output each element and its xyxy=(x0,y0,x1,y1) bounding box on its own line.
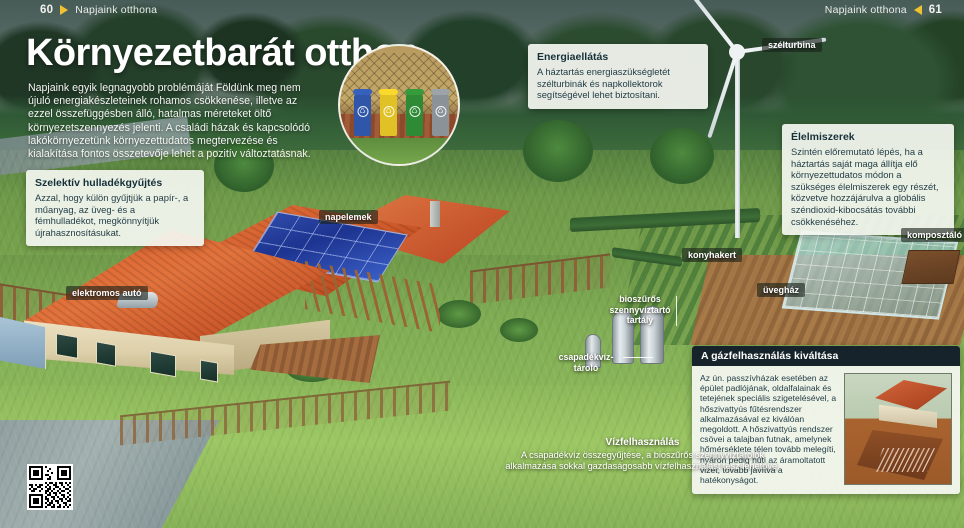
recycle-icon: ♺ xyxy=(357,106,368,117)
callout-solar-panels: napelemek xyxy=(319,210,378,224)
recycle-icon: ♺ xyxy=(383,106,394,117)
passive-house-heat-pump-diagram xyxy=(844,373,952,485)
recycle-icon: ♺ xyxy=(435,106,446,117)
info-box-energy-title: Energiaellátás xyxy=(537,51,699,63)
house-window-c xyxy=(150,351,176,378)
header-left: 60 Napjaink otthona xyxy=(40,4,157,16)
leader-line-rainwater xyxy=(623,357,653,358)
triangle-right-icon xyxy=(60,5,68,15)
recycling-bin-blue: ♺ xyxy=(354,94,371,136)
yard-tree-center xyxy=(523,120,593,182)
inset-lawn xyxy=(340,138,458,164)
recycling-bins-inset: ♺ ♺ ♺ ♺ xyxy=(338,44,460,166)
compost-bin xyxy=(901,250,960,284)
info-box-water-text: A csapadékvíz összegyűjtése, a bioszűrős… xyxy=(505,450,780,473)
wind-turbine-hub xyxy=(729,44,745,60)
recycling-bin-grey: ♺ xyxy=(432,94,449,136)
house-window-b xyxy=(96,341,116,367)
info-box-food-text: Szintén előremutató lépés, ha a háztartá… xyxy=(791,146,945,227)
section-title-left: Napjaink otthona xyxy=(75,4,157,16)
info-box-waste-text: Azzal, hogy külön gyűjtjük a papír-, a m… xyxy=(35,192,195,238)
recycling-bin-green: ♺ xyxy=(406,94,423,136)
page-number-right: 61 xyxy=(929,4,942,16)
info-box-water-title: Vízfelhasználás xyxy=(505,437,780,448)
qr-code[interactable] xyxy=(27,464,73,510)
callout-composter: komposztáló xyxy=(901,228,964,242)
callout-biofilter-tank: bioszűrős szennyvíztartó tartály xyxy=(596,294,684,326)
info-box-gas-title: A gázfelhasználás kiváltása xyxy=(692,346,960,366)
house-chimney xyxy=(430,201,440,227)
page-number-left: 60 xyxy=(40,4,53,16)
diagram-house-roof xyxy=(875,380,947,410)
infographic-page: 60 Napjaink otthona Napjaink otthona 61 … xyxy=(0,0,964,528)
callout-wind-turbine: szélturbina xyxy=(762,38,822,52)
callout-biofilter-tank-line1: bioszűrős xyxy=(619,294,661,304)
diagram-heat-pump-coil xyxy=(875,448,935,472)
callout-electric-car: elektromos autó xyxy=(66,286,148,300)
triangle-left-icon xyxy=(914,5,922,15)
yard-tree-right xyxy=(650,128,714,184)
info-box-waste-title: Szelektív hulladékgyűjtés xyxy=(35,177,195,189)
header-right: Napjaink otthona 61 xyxy=(825,4,942,16)
wind-turbine-mast xyxy=(735,48,740,238)
callout-greenhouse: üvegház xyxy=(757,283,805,297)
house-window-d xyxy=(200,359,218,382)
leader-line-biofilter xyxy=(676,296,677,326)
info-box-food: Élelmiszerek Szintén előremutató lépés, … xyxy=(782,124,954,235)
section-title-right: Napjaink otthona xyxy=(825,4,907,16)
bin-lid xyxy=(353,89,372,95)
info-box-waste: Szelektív hulladékgyűjtés Azzal, hogy kü… xyxy=(26,170,204,246)
info-box-food-title: Élelmiszerek xyxy=(791,131,945,143)
info-box-energy-text: A háztartás energiaszükségletét szélturb… xyxy=(537,66,699,101)
info-box-water: Vízfelhasználás A csapadékvíz összegyűjt… xyxy=(505,437,780,473)
intro-paragraph: Napjaink egyik legnagyobb problémáját Fö… xyxy=(28,82,318,161)
bin-lid xyxy=(379,89,398,95)
house-window-a xyxy=(56,333,78,359)
callout-rainwater-tank-line2: tároló xyxy=(574,363,598,373)
bin-lid xyxy=(405,89,424,95)
recycling-bin-yellow: ♺ xyxy=(380,94,397,136)
callout-biofilter-tank-line3: tartály xyxy=(627,315,653,325)
info-box-energy: Energiaellátás A háztartás energiaszüksé… xyxy=(528,44,708,109)
qr-code-image xyxy=(29,466,71,508)
callout-rainwater-tank-line1: csapadékvíz- xyxy=(559,352,614,362)
callout-biofilter-tank-line2: szennyvíztartó xyxy=(609,305,670,315)
bin-lid xyxy=(431,89,450,95)
callout-kitchen-garden: konyhakert xyxy=(682,248,742,262)
recycle-icon: ♺ xyxy=(409,106,420,117)
callout-rainwater-tank: csapadékvíz- tároló xyxy=(551,352,621,373)
